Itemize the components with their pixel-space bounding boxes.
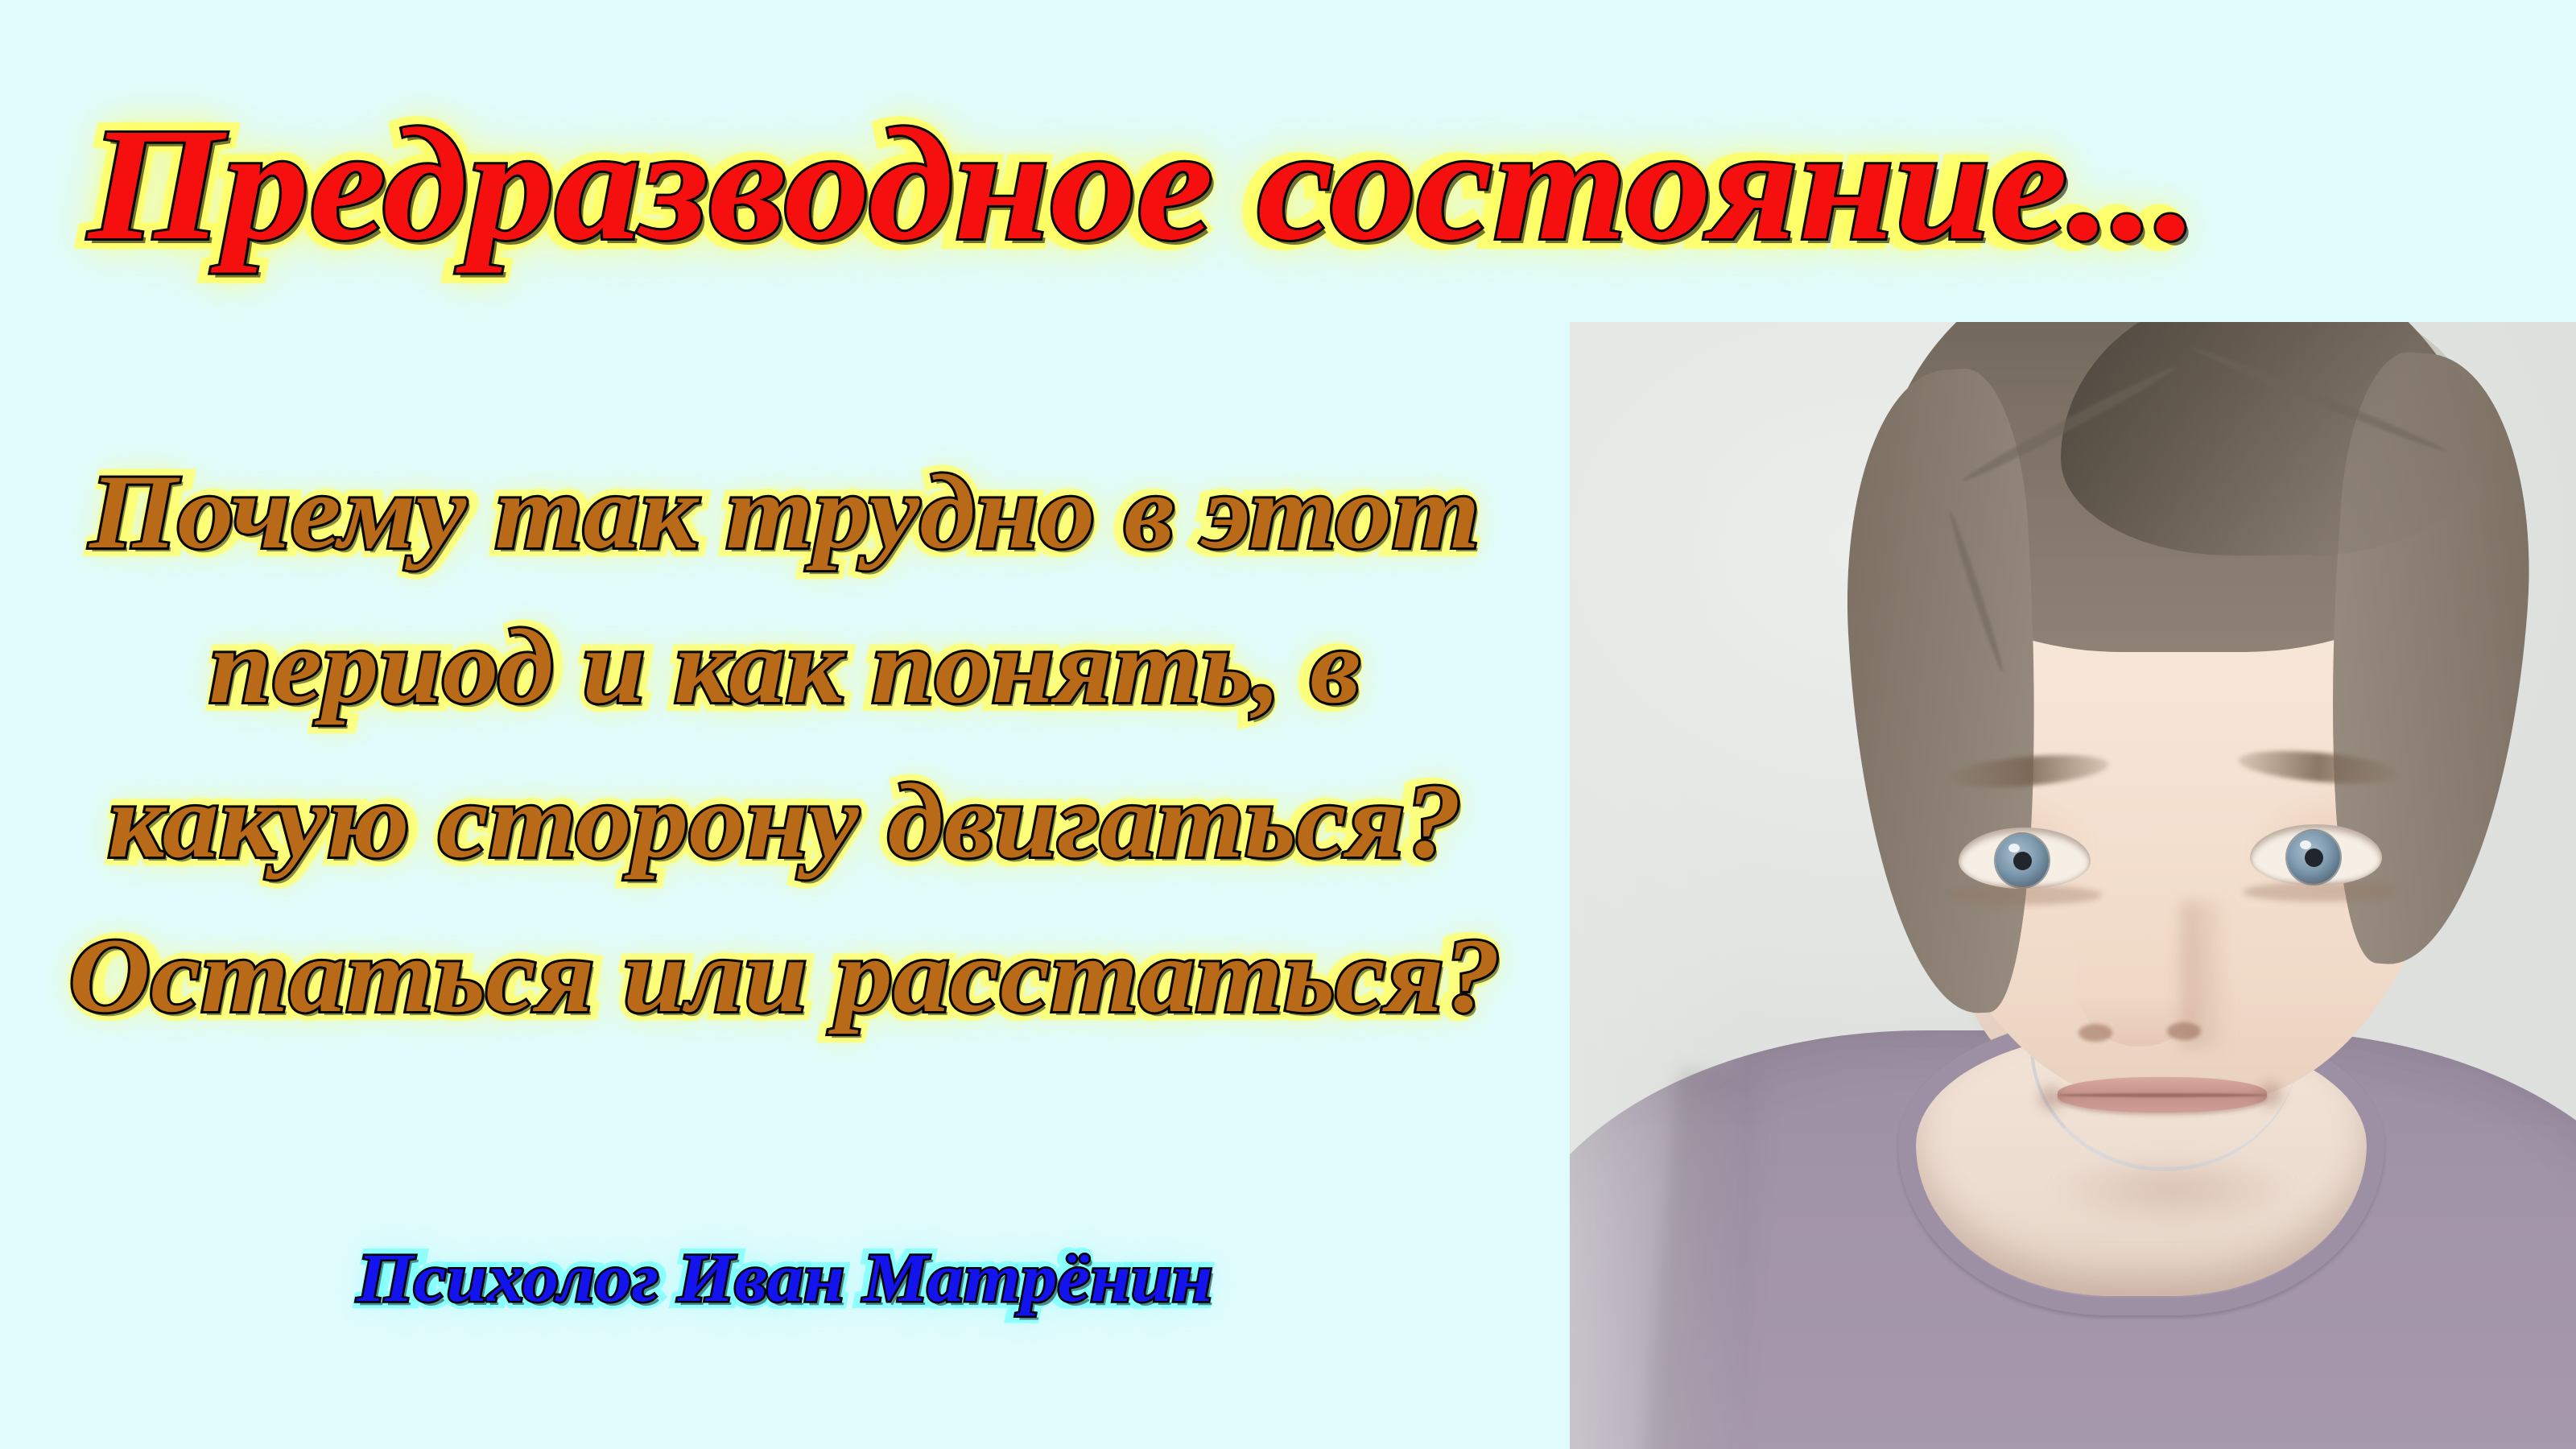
body-line-2: период и как понять, в: [0, 613, 1617, 720]
pupil-left: [2013, 852, 2032, 870]
lip-line: [2058, 1093, 2267, 1097]
under-eye-left: [1950, 885, 2103, 905]
nostril-left: [2079, 1024, 2112, 1042]
under-eye-right: [2243, 882, 2396, 902]
iris-left: [1996, 834, 2049, 887]
eye-glint-right: [2300, 840, 2311, 849]
body-line-1: Почему так трудно в этот: [0, 459, 1617, 565]
eye-left: [1959, 828, 2091, 889]
smile-crease-left: [2032, 1080, 2070, 1116]
eye-glint-left: [2008, 844, 2020, 852]
headline-text: Предразводное состояние...: [89, 105, 2198, 266]
portrait-photo: [1570, 322, 2576, 1449]
nostril-right: [2167, 1022, 2201, 1040]
person-figure: [1570, 322, 2576, 1449]
signature-text: Психолог Иван Матрёнин: [0, 1243, 1609, 1312]
iris-right: [2287, 831, 2340, 884]
body-line-3: какую сторону двигаться?: [0, 768, 1617, 874]
pupil-right: [2305, 848, 2323, 867]
smile-crease-right: [2251, 1077, 2289, 1113]
youtube-thumbnail: Предразводное состояние... Предразводное…: [0, 0, 2576, 1449]
body-line-4: Остаться или расстаться?: [0, 923, 1617, 1029]
chin-shadow: [2053, 1153, 2294, 1225]
eye-right: [2250, 824, 2382, 885]
